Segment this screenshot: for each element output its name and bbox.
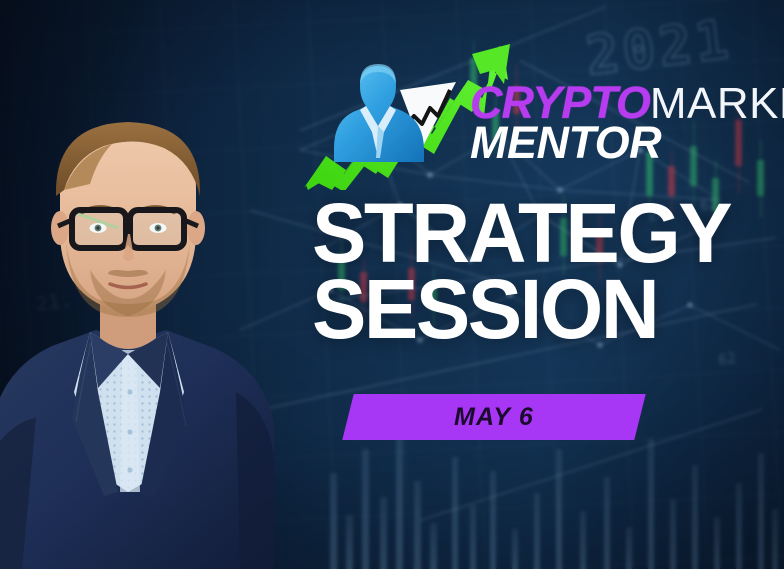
brand-logo: CRYPTOMARKET MENTOR <box>304 40 782 190</box>
logo-word-mentor: MENTOR <box>470 122 784 163</box>
promo-graphic-canvas: 2021 21. 62 24 62 <box>0 0 784 569</box>
logo-word-market: MARKET <box>650 79 784 128</box>
headline: STRATEGY SESSION <box>312 196 758 347</box>
logo-wordmark: CRYPTOMARKET MENTOR <box>470 82 784 164</box>
presenter-portrait <box>0 92 278 569</box>
date-badge: MAY 6 <box>348 394 640 440</box>
headline-line-1: STRATEGY <box>312 196 758 272</box>
headline-line-2: SESSION <box>312 272 758 348</box>
date-badge-label: MAY 6 <box>348 394 640 440</box>
